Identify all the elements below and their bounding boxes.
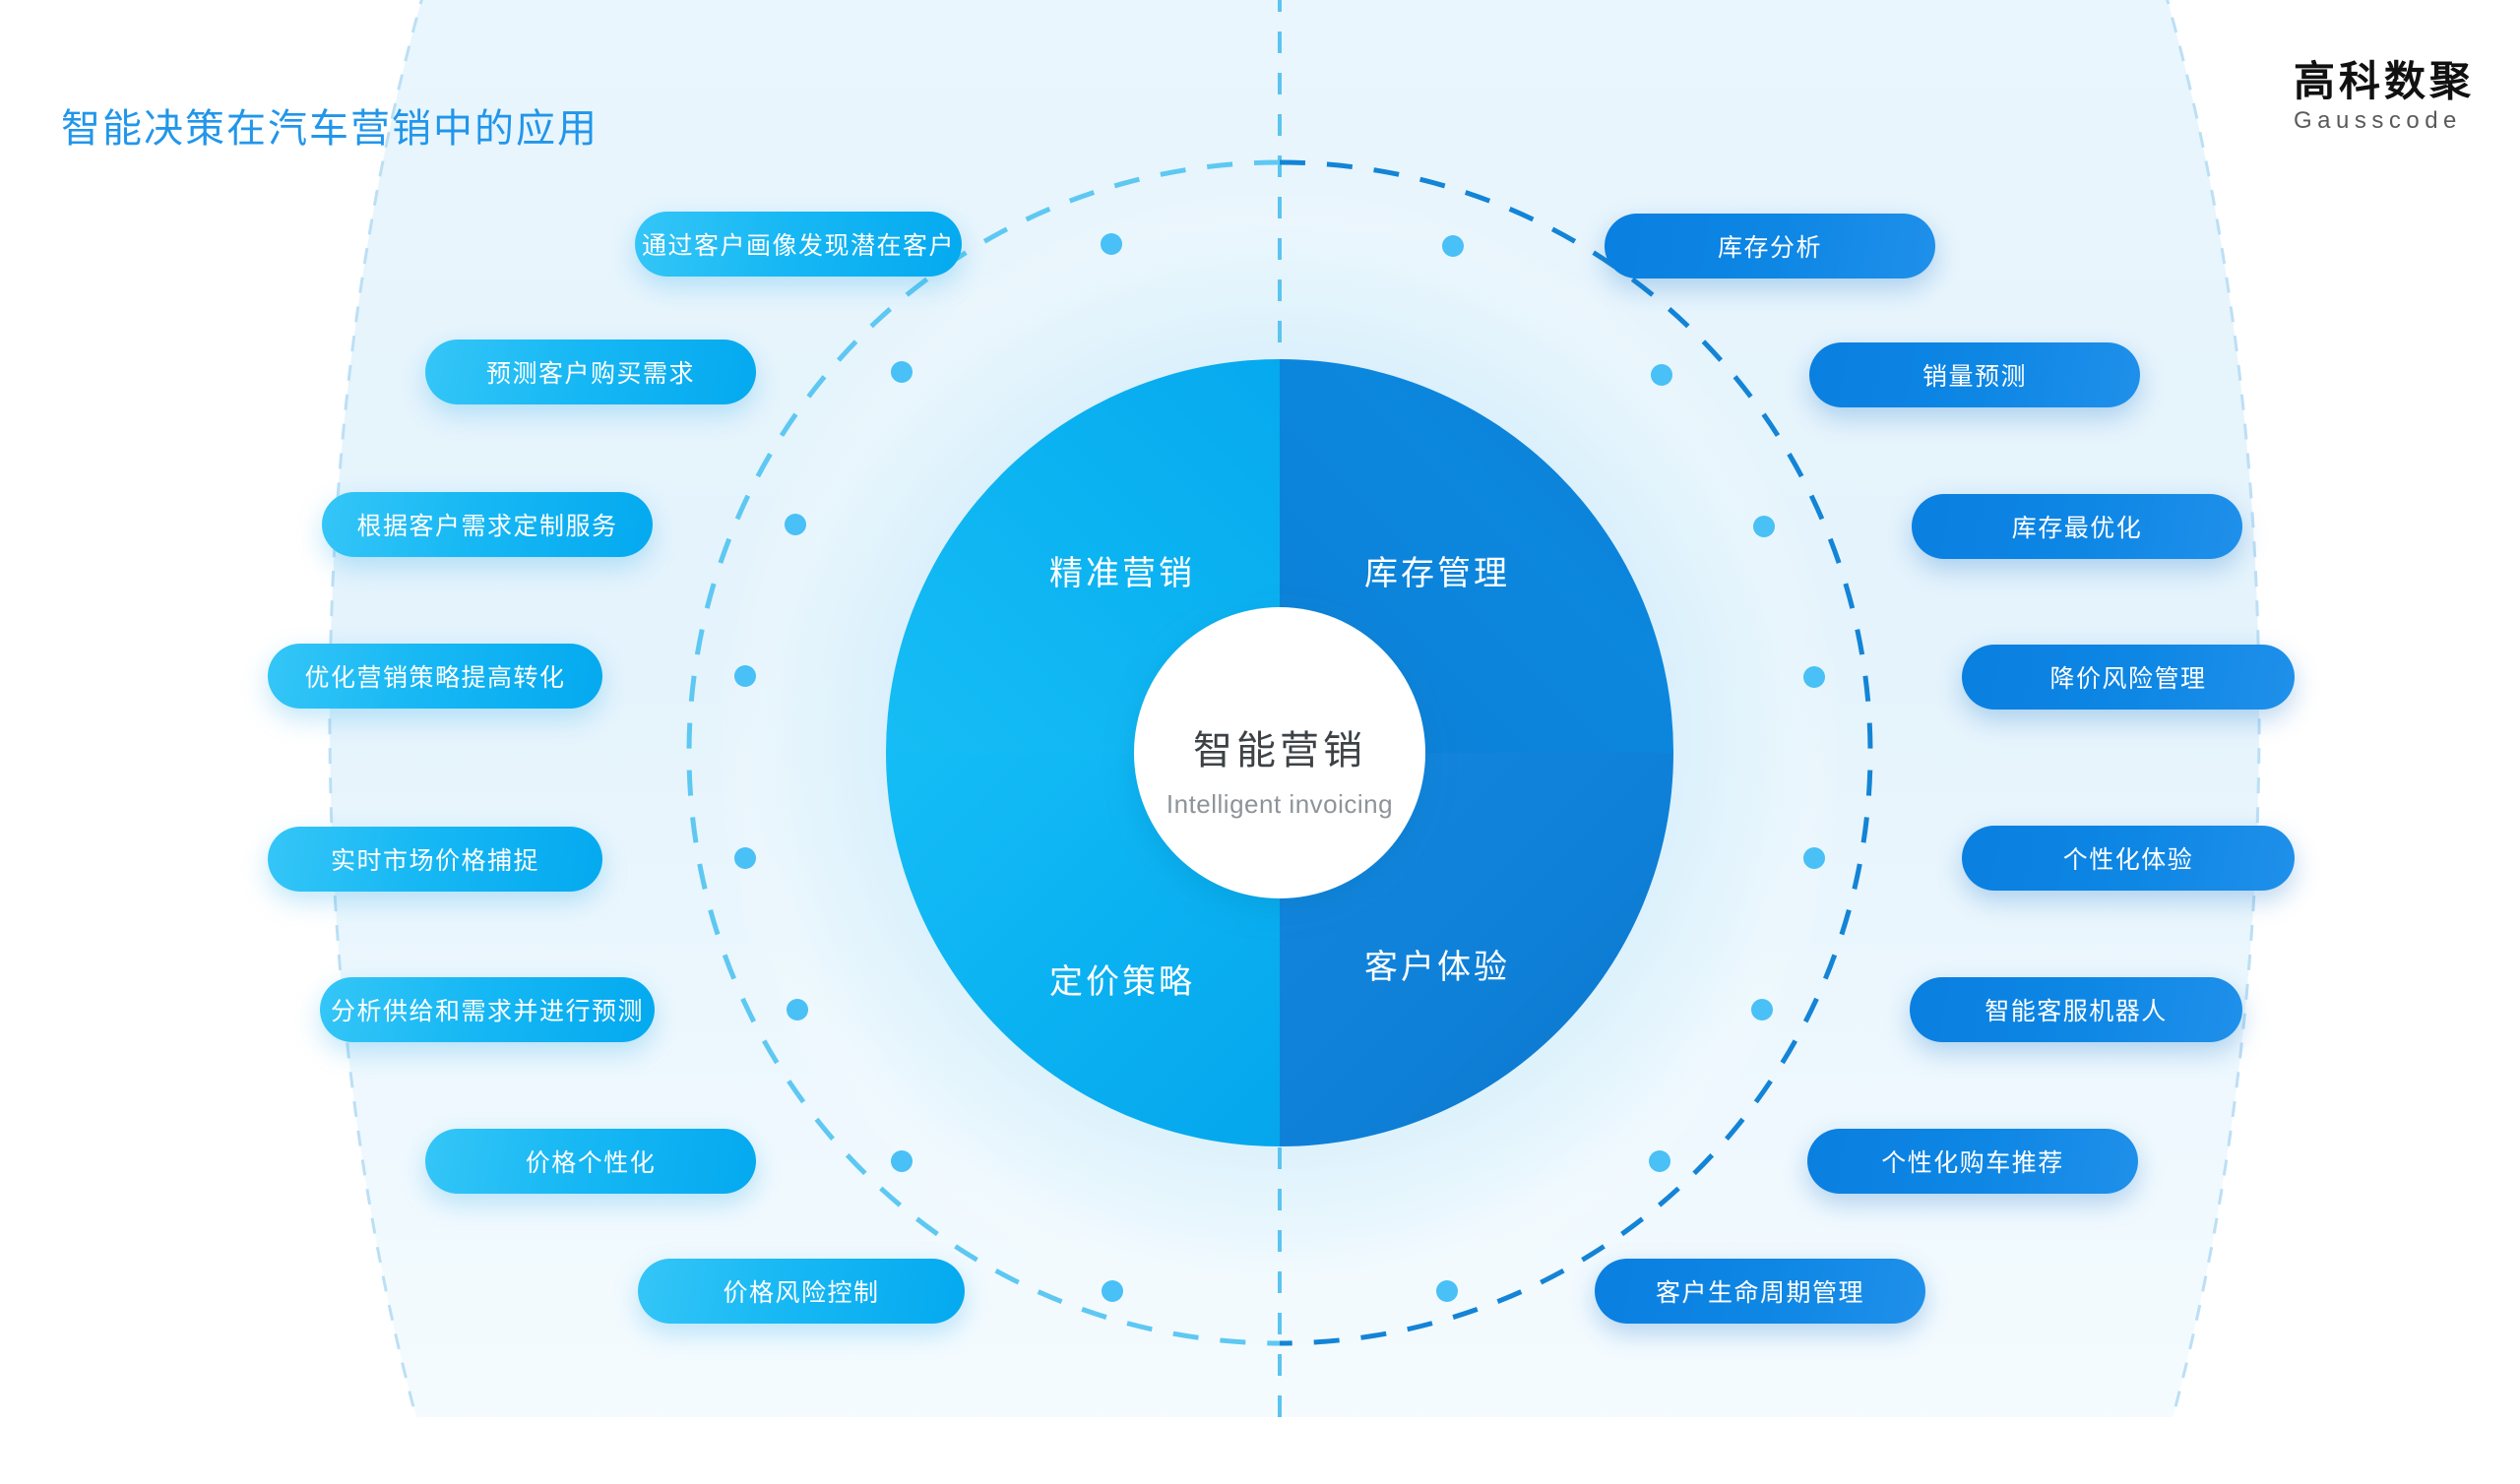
right-item-5[interactable]: 智能客服机器人 <box>1910 977 2242 1042</box>
left-item-3[interactable]: 优化营销策略提高转化 <box>268 644 602 709</box>
core-title-cn: 智能营销 <box>1132 718 1427 775</box>
right-item-0[interactable]: 库存分析 <box>1605 214 1935 278</box>
left-item-7[interactable]: 价格风险控制 <box>638 1259 965 1324</box>
left-item-1[interactable]: 预测客户购买需求 <box>425 340 756 404</box>
core-text-block: 智能营销 Intelligent invoicing <box>1132 718 1427 820</box>
left-item-0[interactable]: 通过客户画像发现潜在客户 <box>635 212 962 277</box>
right-item-7[interactable]: 客户生命周期管理 <box>1595 1259 1925 1324</box>
right-item-6[interactable]: 个性化购车推荐 <box>1807 1129 2138 1194</box>
core-title-en: Intelligent invoicing <box>1132 789 1427 820</box>
quadrant-label-bottom-right: 客户体验 <box>1309 940 1565 988</box>
quadrant-label-top-left: 精准营销 <box>994 546 1250 594</box>
right-item-2[interactable]: 库存最优化 <box>1912 494 2242 559</box>
left-item-6[interactable]: 价格个性化 <box>425 1129 756 1194</box>
page-title: 智能决策在汽车营销中的应用 <box>61 96 598 154</box>
right-item-4[interactable]: 个性化体验 <box>1962 826 2295 891</box>
left-item-4[interactable]: 实时市场价格捕捉 <box>268 827 602 892</box>
right-item-1[interactable]: 销量预测 <box>1809 342 2140 407</box>
quadrant-label-top-right: 库存管理 <box>1309 546 1565 594</box>
left-item-5[interactable]: 分析供给和需求并进行预测 <box>320 977 655 1042</box>
left-item-2[interactable]: 根据客户需求定制服务 <box>322 492 653 557</box>
brand-logo: 高科数聚 Gausscode <box>2215 61 2475 133</box>
infographic-canvas: 智能决策在汽车营销中的应用 高科数聚 Gausscode 精准营销 库存管理 定… <box>0 0 2520 1417</box>
quadrant-label-bottom-left: 定价策略 <box>994 955 1250 1003</box>
gausscode-mark-icon <box>2215 67 2276 128</box>
right-item-3[interactable]: 降价风险管理 <box>1962 645 2295 710</box>
